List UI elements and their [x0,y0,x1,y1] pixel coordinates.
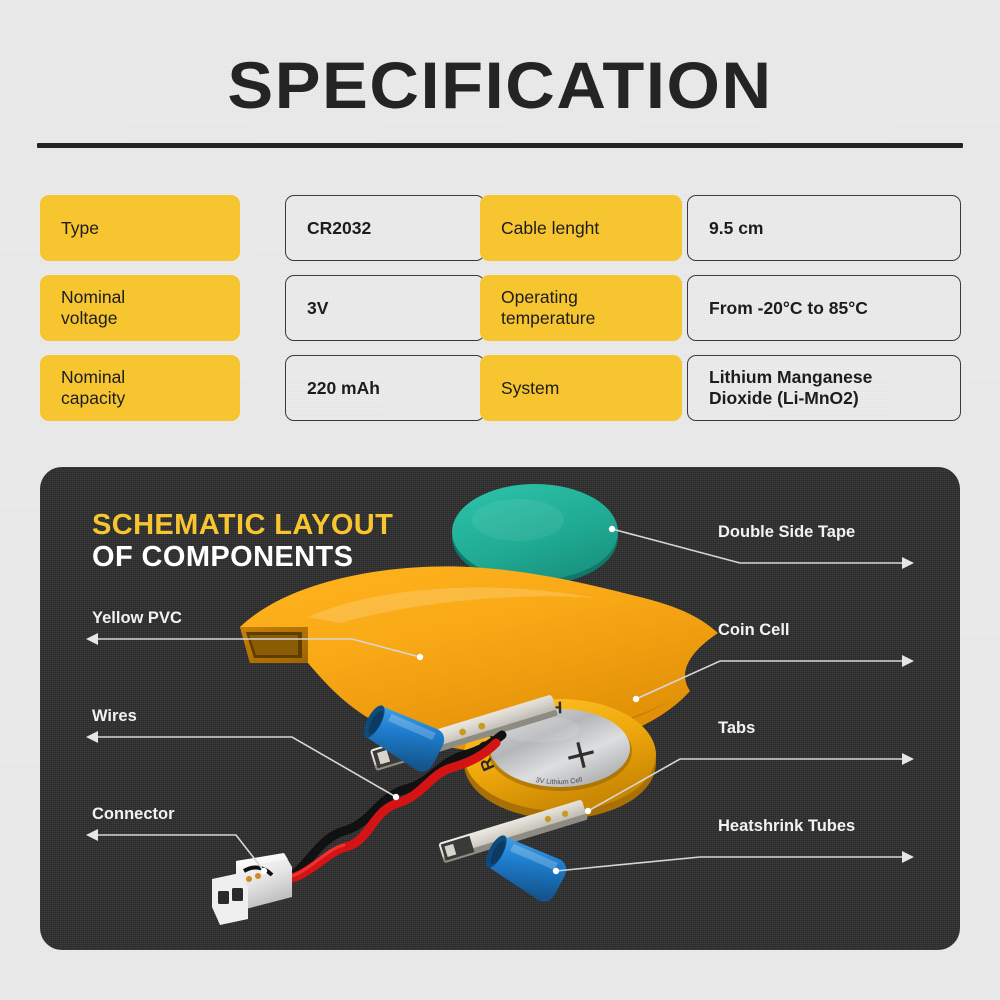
spec-value: 3V [285,275,485,341]
callout-double-side-tape: Double Side Tape [718,523,855,542]
spec-value: 9.5 cm [687,195,961,261]
spec-label: Type [40,195,240,261]
title-divider [37,143,963,148]
callout-connector: Connector [92,805,175,824]
leader-heatshrink-tubes [556,857,908,871]
spec-value: CR2032 [285,195,485,261]
leader-tabs [588,759,908,811]
schematic-heading: SCHEMATIC LAYOUT OF COMPONENTS [92,509,393,574]
leader-yellow-pvc [92,639,420,657]
spec-value: 220 mAh [285,355,485,421]
spec-label: Cable lenght [480,195,682,261]
leader-anchor-dots [261,526,639,874]
infographic-page: SPECIFICATION Type CR2032 Nominalvoltage… [0,0,1000,1000]
callout-heatshrink-tubes: Heatshrink Tubes [718,817,855,836]
leader-connector [92,835,264,871]
callout-yellow-pvc: Yellow PVC [92,609,182,628]
callout-coin-cell: Coin Cell [718,621,790,640]
spec-value: Lithium ManganeseDioxide (Li-MnO2) [687,355,961,421]
leader-wires [92,737,396,797]
page-title: SPECIFICATION [0,47,1000,123]
schematic-panel: SCHEMATIC LAYOUT OF COMPONENTS [40,467,960,950]
spec-label: Nominalvoltage [40,275,240,341]
spec-label: System [480,355,682,421]
leader-coin-cell [636,661,908,699]
schematic-heading-line2: OF COMPONENTS [92,541,393,573]
spec-label: Nominalcapacity [40,355,240,421]
callout-tabs: Tabs [718,719,755,738]
schematic-heading-line1: SCHEMATIC LAYOUT [92,509,393,541]
spec-label: Operatingtemperature [480,275,682,341]
callout-wires: Wires [92,707,137,726]
spec-value: From -20°C to 85°C [687,275,961,341]
